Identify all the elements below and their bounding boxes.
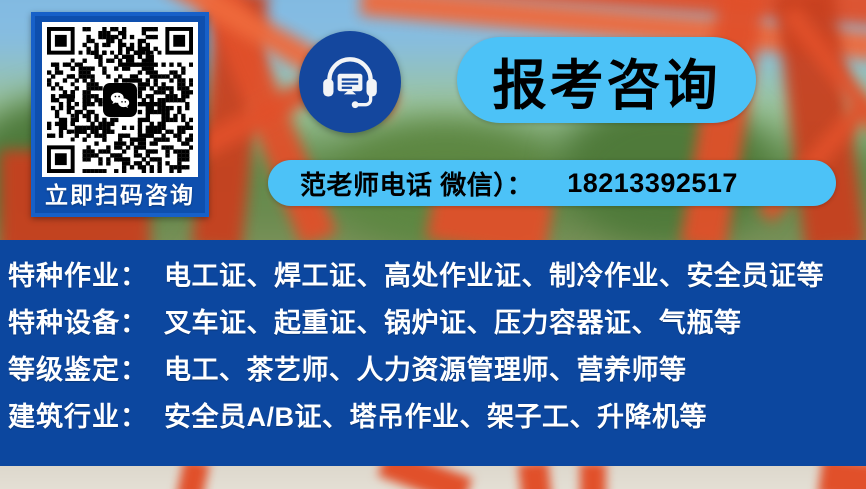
crane-beam (518, 466, 552, 489)
course-row: 等级鉴定： 电工、茶艺师、人力资源管理师、营养师等 (0, 348, 866, 395)
course-items: 安全员A/B证、塔吊作业、架子工、升降机等 (164, 395, 707, 434)
course-row: 建筑行业： 安全员A/B证、塔吊作业、架子工、升降机等 (0, 395, 866, 442)
crane-beam (580, 466, 606, 489)
course-category-label: 特种作业： (8, 254, 148, 293)
course-row: 特种作业： 电工证、焊工证、高处作业证、制冷作业、安全员证等 (0, 254, 866, 301)
course-items: 叉车证、起重证、锅炉证、压力容器证、气瓶等 (164, 301, 742, 340)
course-category-label: 建筑行业： (8, 395, 148, 434)
headset-support-icon (299, 31, 401, 133)
qr-caption: 立即扫码咨询 (35, 180, 205, 210)
course-category-label: 特种设备： (8, 301, 148, 340)
crane-beam (176, 466, 210, 489)
qr-code-frame (42, 22, 198, 177)
title-pill: 报考咨询 (457, 37, 756, 123)
bottom-photo-strip (0, 466, 866, 489)
course-items: 电工证、焊工证、高处作业证、制冷作业、安全员证等 (164, 254, 824, 293)
course-list-panel: 特种作业： 电工证、焊工证、高处作业证、制冷作业、安全员证等 特种设备： 叉车证… (0, 240, 866, 466)
title-text: 报考咨询 (493, 41, 721, 120)
promo-poster: 立即扫码咨询 报考咨询 范老师电话 微信）： 18213392517 特种作业：… (0, 0, 866, 489)
phone-label: 范老师电话 微信）： (300, 165, 533, 202)
course-row: 特种设备： 叉车证、起重证、锅炉证、压力容器证、气瓶等 (0, 301, 866, 348)
crane-beam (818, 466, 866, 489)
phone-number[interactable]: 18213392517 (567, 168, 738, 199)
wechat-icon (103, 83, 137, 117)
course-category-label: 等级鉴定： (8, 348, 148, 387)
phone-pill[interactable]: 范老师电话 微信）： 18213392517 (268, 160, 836, 206)
course-items: 电工、茶艺师、人力资源管理师、营养师等 (164, 348, 687, 387)
qr-code-card[interactable]: 立即扫码咨询 (31, 12, 209, 217)
qr-code[interactable] (47, 27, 193, 173)
